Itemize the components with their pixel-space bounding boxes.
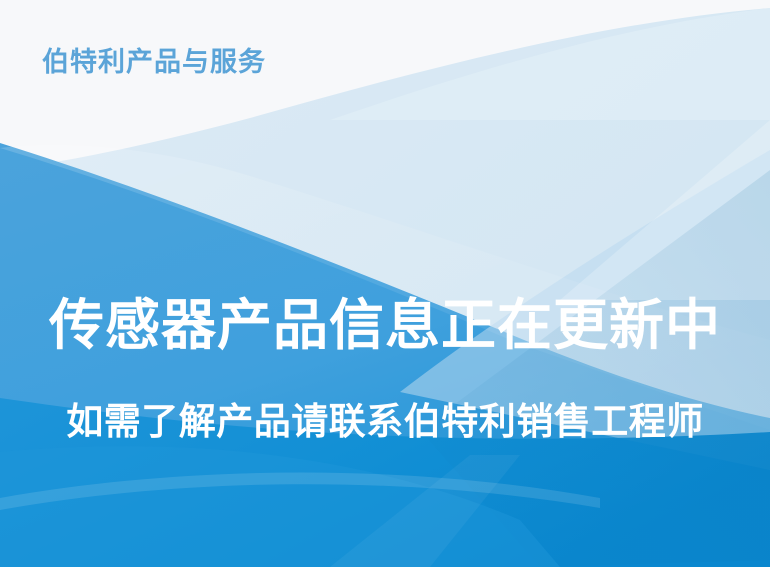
status-headline: 传感器产品信息正在更新中: [0, 295, 770, 356]
contact-subheadline: 如需了解产品请联系伯特利销售工程师: [0, 402, 770, 443]
abstract-wave-background: [0, 0, 770, 567]
page-title: 伯特利产品与服务: [42, 48, 266, 78]
product-service-banner: 伯特利产品与服务 传感器产品信息正在更新中 如需了解产品请联系伯特利销售工程师: [0, 0, 770, 567]
